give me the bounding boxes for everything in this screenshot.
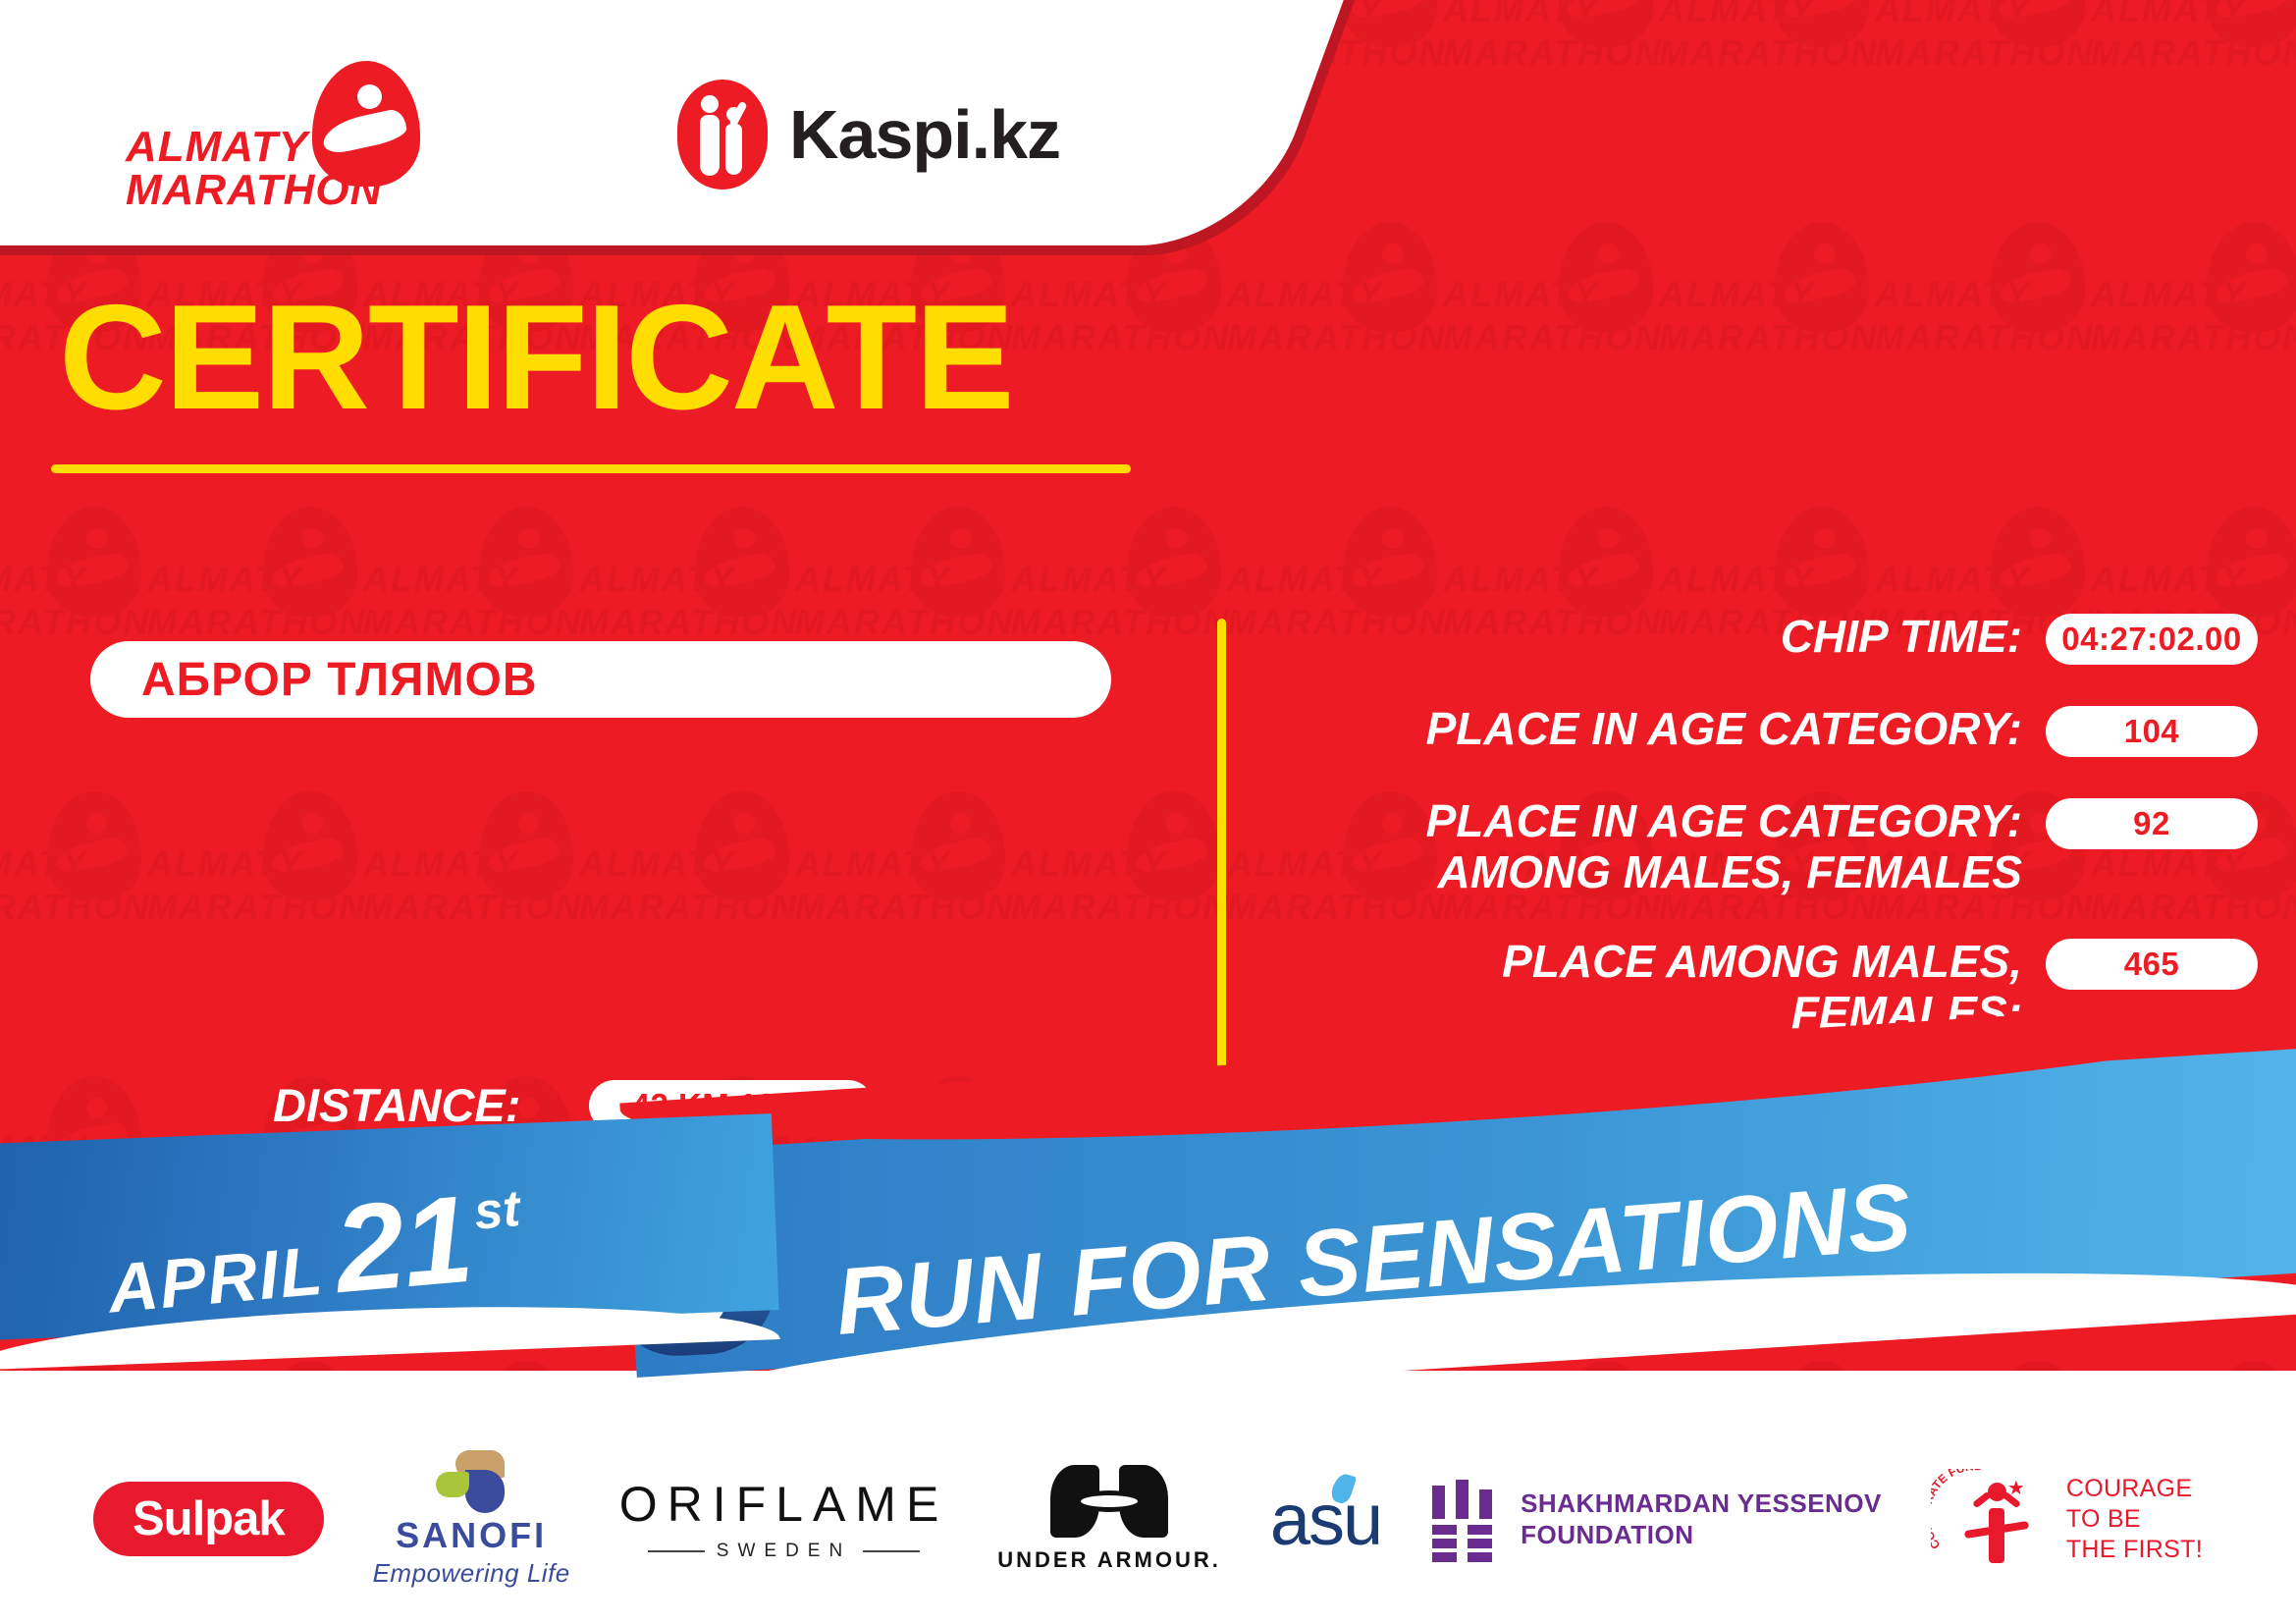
yessenov-line-2: FOUNDATION — [1521, 1519, 1882, 1551]
sponsor-under-armour: UNDER ARMOUR. — [997, 1465, 1221, 1573]
sponsor-sanofi: SANOFI Empowering Life — [373, 1450, 570, 1589]
sanofi-logo-text: SANOFI — [396, 1515, 547, 1556]
yessenov-line-1: SHAKHMARDAN YESSENOV — [1521, 1488, 1882, 1520]
chip-time-row: CHIP TIME: 04:27:02.00 — [1266, 612, 2258, 665]
yessenov-logo-text: SHAKHMARDAN YESSENOV FOUNDATION — [1521, 1488, 1882, 1551]
place-among-gender-value: 465 — [2046, 939, 2258, 990]
kaspi-logo: Kaspi.kz — [677, 77, 1060, 192]
certificate-canvas: ALMATYMARATHONALMATYMARATHONALMATYMARATH… — [0, 0, 2296, 1624]
asu-logo-text: asu — [1270, 1478, 1381, 1561]
sponsor-bar: Sulpak SANOFI Empowering Life ORIFLAME S… — [0, 1414, 2296, 1624]
event-ribbon: APRIL 21 st RUN FOR SENSATIONS — [0, 1119, 2296, 1424]
place-age-category-gender-row: PLACE IN AGE CATEGORY:AMONG MALES, FEMAL… — [1266, 796, 2258, 897]
chip-time-value: 04:27:02.00 — [2046, 614, 2258, 665]
under-armour-logo-text: UNDER ARMOUR. — [997, 1547, 1221, 1573]
participant-name-field: АБРОР ТЛЯМОВ — [90, 641, 1111, 718]
logo-line-2: MARATHON — [126, 169, 382, 212]
sanofi-tagline: Empowering Life — [373, 1558, 570, 1589]
watermark-tile: ALMATYMARATHON — [1875, 0, 2091, 88]
sponsor-corporate-fund: CORPORATE FUND ★ COURAGE TO BE THE FIRST… — [1931, 1465, 2203, 1573]
courage-line-2: TO BE — [2066, 1504, 2203, 1535]
chip-time-label: CHIP TIME: — [1781, 612, 2022, 663]
watermark-tile: ALMATYMARATHON — [2091, 0, 2296, 88]
place-age-category-label: PLACE IN AGE CATEGORY: — [1426, 704, 2022, 755]
logo-line-1: ALMATY — [126, 126, 382, 169]
place-age-category-gender-label: PLACE IN AGE CATEGORY:AMONG MALES, FEMAL… — [1426, 796, 2022, 897]
title-underline — [51, 464, 1131, 473]
sulpak-logo-text: Sulpak — [93, 1482, 324, 1556]
sanofi-bird-icon — [432, 1450, 510, 1509]
courage-line-3: THE FIRST! — [2066, 1535, 2203, 1565]
watermark-tile: ALMATYMARATHON — [1443, 0, 1659, 88]
sponsor-oriflame: ORIFLAME SWEDEN — [619, 1476, 949, 1562]
event-day-suffix: st — [472, 1179, 522, 1242]
kaspi-logo-text: Kaspi.kz — [789, 95, 1060, 174]
oriflame-rule-right — [863, 1550, 920, 1552]
almaty-marathon-logo: ALMATY MARATHON — [126, 61, 450, 208]
sponsor-sulpak: Sulpak — [93, 1482, 324, 1556]
place-age-category-gender-value: 92 — [2046, 798, 2258, 849]
under-armour-icon — [1050, 1465, 1168, 1538]
certificate-header: ALMATY MARATHON Kaspi.kz — [0, 0, 1315, 273]
kaspi-people-icon — [677, 80, 768, 189]
event-month: APRIL — [105, 1231, 327, 1328]
oriflame-rule-left — [648, 1550, 705, 1552]
corporate-fund-text: COURAGE TO BE THE FIRST! — [2066, 1474, 2203, 1565]
courage-line-1: COURAGE — [2066, 1474, 2203, 1504]
certificate-body: CERTIFICATE АБРОР ТЛЯМОВ DISTANCE: 42 KM… — [0, 273, 2296, 1137]
place-age-category-row: PLACE IN AGE CATEGORY: 104 — [1266, 704, 2258, 757]
yessenov-bars-icon — [1430, 1480, 1495, 1558]
corporate-fund-runner-icon: ★ — [1974, 1483, 2019, 1565]
sponsor-yessenov-foundation: SHAKHMARDAN YESSENOV FOUNDATION — [1430, 1480, 1882, 1558]
almaty-marathon-logo-text: ALMATY MARATHON — [126, 126, 382, 212]
sponsor-asu: asu — [1270, 1478, 1381, 1561]
corporate-fund-icon: CORPORATE FUND ★ — [1931, 1465, 2049, 1573]
oriflame-tagline: SWEDEN — [717, 1541, 851, 1562]
watermark-tile: ALMATYMARATHON — [1659, 0, 1875, 88]
place-age-category-value: 104 — [2046, 706, 2258, 757]
oriflame-logo-text: ORIFLAME — [619, 1476, 949, 1533]
participant-name: АБРОР ТЛЯМОВ — [141, 653, 538, 707]
page-title: CERTIFICATE — [59, 283, 1013, 432]
event-day: 21 — [330, 1167, 477, 1321]
